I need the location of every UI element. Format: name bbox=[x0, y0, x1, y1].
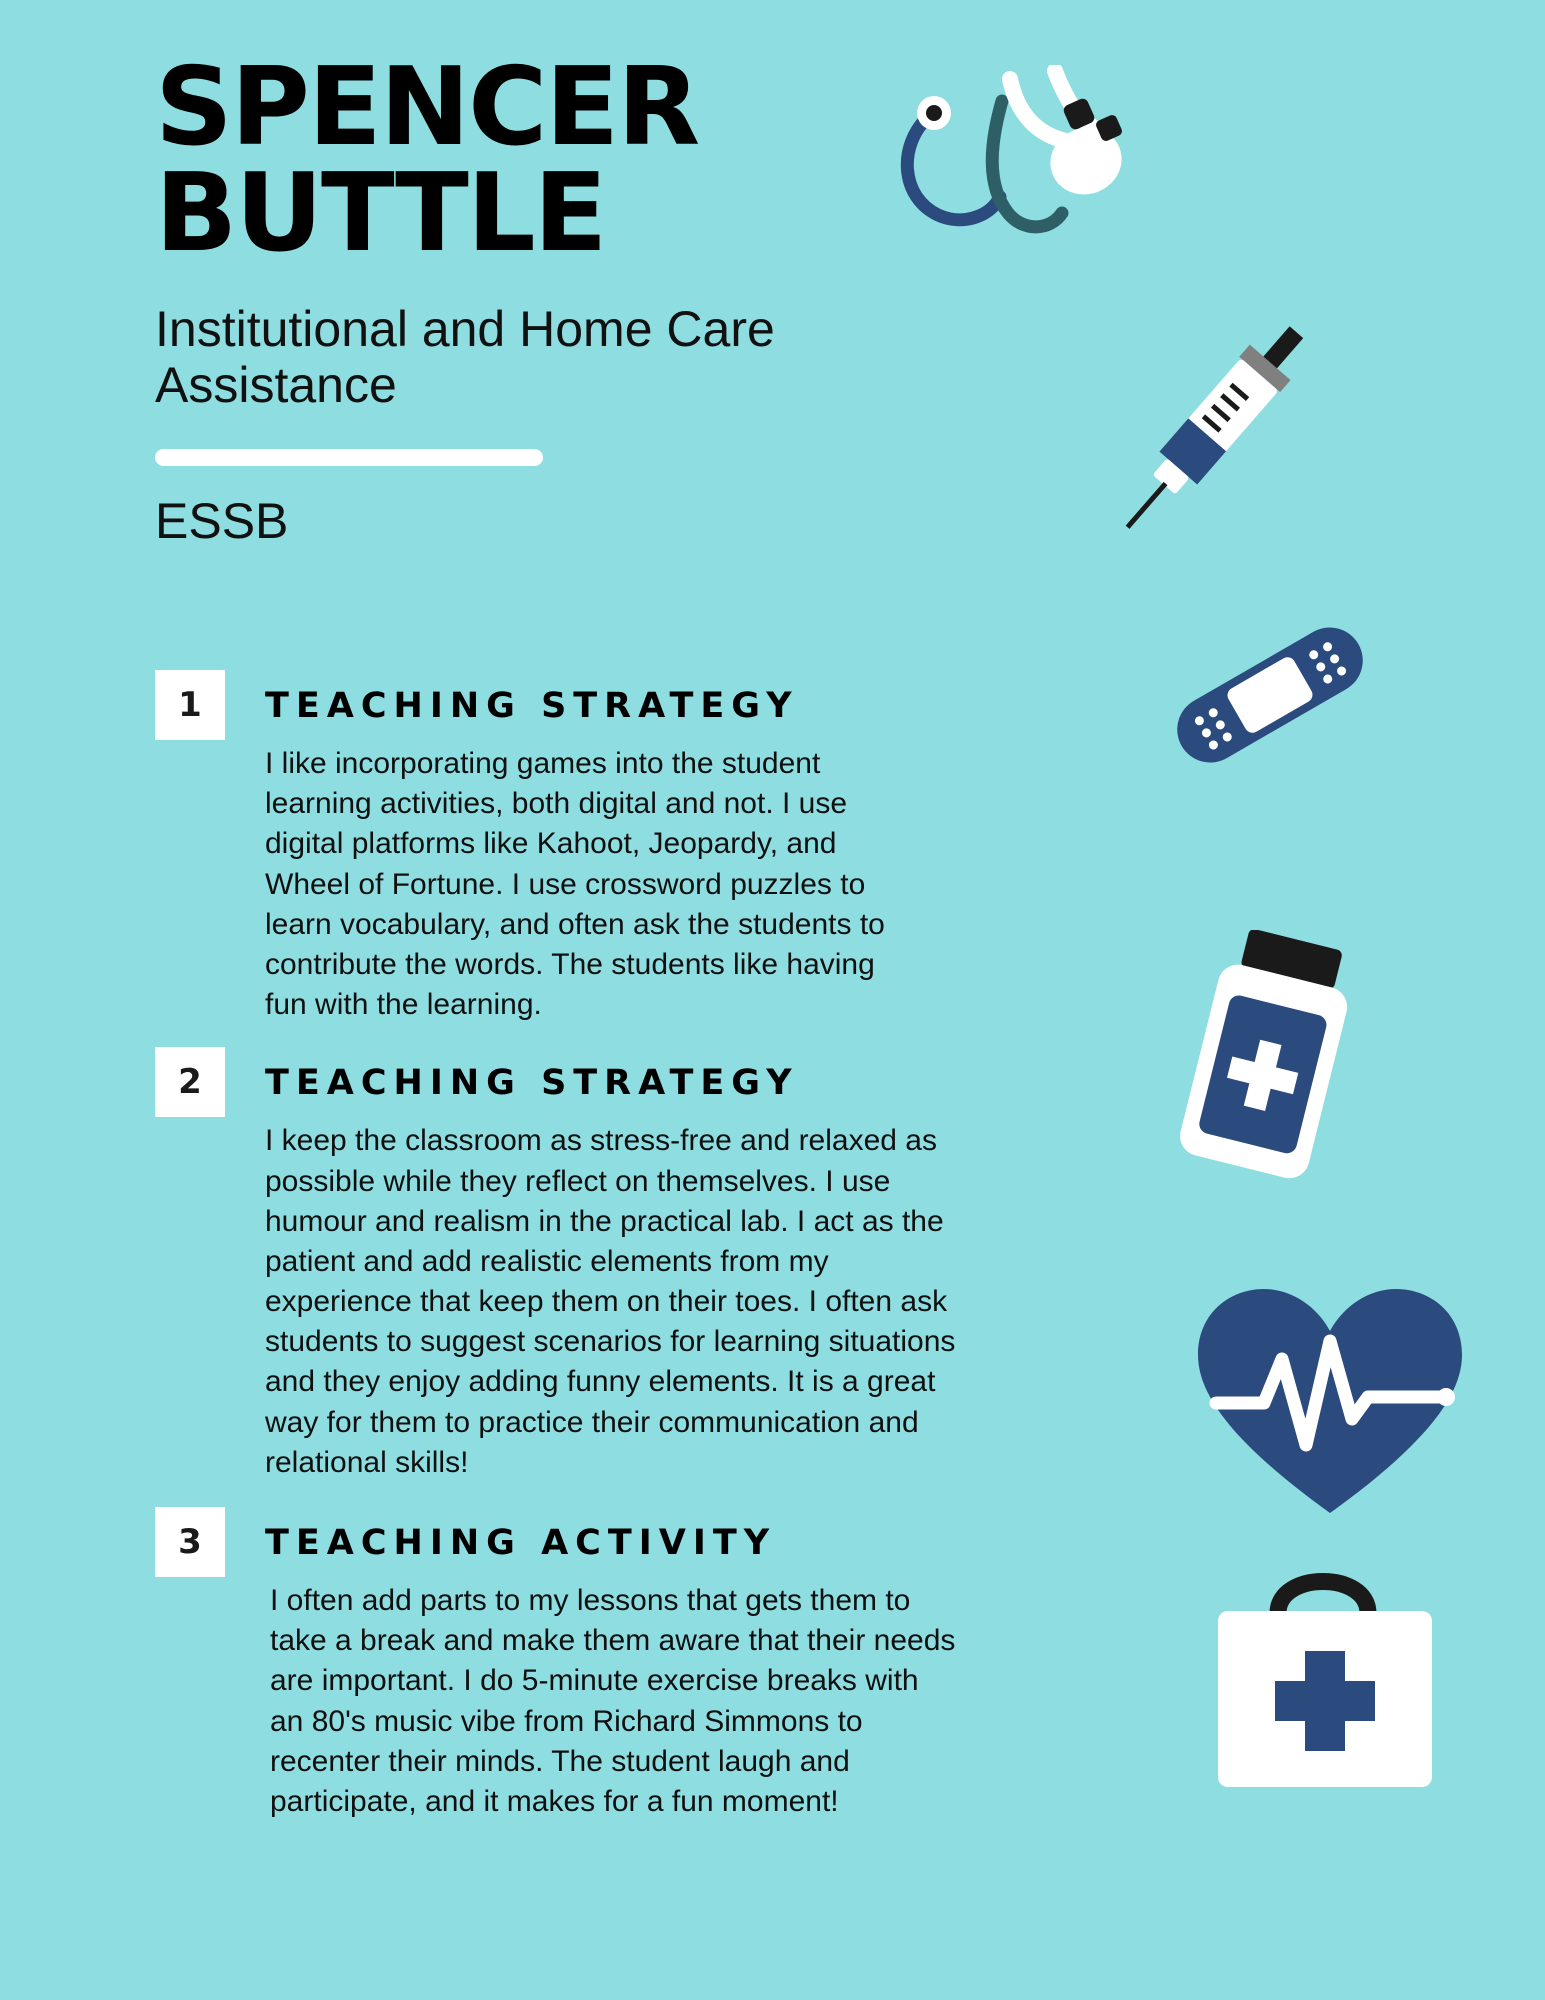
section-body-text: I often add parts to my lessons that get… bbox=[270, 1581, 960, 1822]
stethoscope-icon bbox=[890, 65, 1150, 275]
poster-header: SPENCER BUTTLE Institutional and Home Ca… bbox=[155, 55, 915, 550]
section-body-text: I keep the classroom as stress-free and … bbox=[265, 1121, 965, 1483]
section-number-badge: 3 bbox=[155, 1507, 225, 1577]
poster-canvas: SPENCER BUTTLE Institutional and Home Ca… bbox=[0, 0, 1545, 2000]
medicine-bottle-icon bbox=[1160, 930, 1375, 1195]
section-item: 2 TEACHING STRATEGY I keep the classroom… bbox=[155, 1047, 945, 1483]
section-header: 2 TEACHING STRATEGY bbox=[155, 1047, 945, 1117]
syringe-icon bbox=[1090, 310, 1340, 560]
section-number-badge: 1 bbox=[155, 670, 225, 740]
organization-name: ESSB bbox=[155, 492, 915, 550]
heartbeat-icon bbox=[1190, 1285, 1470, 1525]
section-title: TEACHING ACTIVITY bbox=[265, 1523, 776, 1563]
adhesive-bandage-icon bbox=[1160, 610, 1380, 780]
first-aid-kit-icon bbox=[1200, 1555, 1450, 1805]
page-title: SPENCER BUTTLE bbox=[155, 55, 915, 267]
sections-list: 1 TEACHING STRATEGY I like incorporating… bbox=[155, 670, 945, 1828]
section-body-text: I like incorporating games into the stud… bbox=[265, 744, 955, 1025]
section-title: TEACHING STRATEGY bbox=[265, 1063, 799, 1103]
section-item: 1 TEACHING STRATEGY I like incorporating… bbox=[155, 670, 945, 1025]
header-divider bbox=[155, 449, 543, 466]
section-number-badge: 2 bbox=[155, 1047, 225, 1117]
section-header: 3 TEACHING ACTIVITY bbox=[155, 1507, 945, 1577]
section-title: TEACHING STRATEGY bbox=[265, 686, 799, 726]
section-header: 1 TEACHING STRATEGY bbox=[155, 670, 945, 740]
section-item: 3 TEACHING ACTIVITY I often add parts to… bbox=[155, 1507, 945, 1822]
page-subtitle: Institutional and Home Care Assistance bbox=[155, 301, 815, 413]
